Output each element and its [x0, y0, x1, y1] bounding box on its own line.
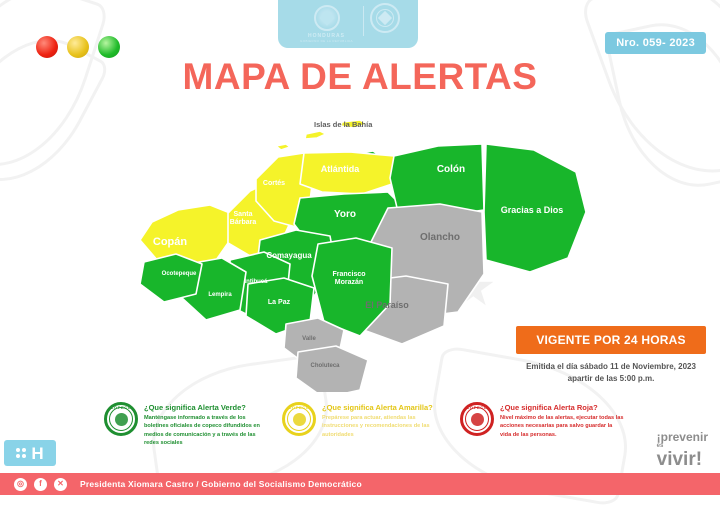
seal-label: COPECO [460, 405, 494, 410]
map-label-colón: Colón [437, 164, 465, 175]
map-label-yoro: Yoro [334, 209, 356, 220]
map-label-lempira: Lempira [208, 292, 232, 298]
tagline-line1: ¡prevenir [657, 431, 708, 443]
alert-dot-yellow-icon [67, 36, 89, 58]
legend-item-amarilla: COPECO ¿Que significa Alerta Amarilla? P… [282, 402, 446, 448]
map-islands-label: Islas de la Bahía [314, 120, 372, 129]
x-twitter-icon[interactable]: ✕ [54, 478, 67, 491]
map-label-choluteca: Choluteca [310, 363, 340, 369]
page-title: MAPA DE ALERTAS [0, 56, 720, 98]
map-region-choluteca [296, 346, 368, 392]
honduras-emblem-icon [314, 5, 340, 31]
map-label-el-paraíso: El Paraíso [365, 300, 409, 310]
map-label-la-paz: La Paz [268, 299, 291, 306]
validity-banner: VIGENTE POR 24 HORAS [516, 326, 706, 354]
legend-body-verde: Manténgase informado a través de los bol… [144, 414, 268, 448]
logo-country-sublabel: GOBIERNO DE LA REPUBLICA [300, 39, 353, 43]
alert-dot-green-icon [98, 36, 120, 58]
honduras-government-logo: HONDURAS GOBIERNO DE LA REPUBLICA [297, 0, 357, 48]
map-label-cortés: Cortés [263, 180, 285, 187]
tagline: ¡prevenir es vivir! [657, 431, 708, 469]
map-region-islas [276, 144, 290, 150]
validity-issue-date: Emitida el día sábado 11 de Noviembre, 2… [516, 361, 706, 373]
legend-item-roja: COPECO ¿Que significa Alerta Roja? Nivel… [460, 402, 624, 448]
map-label-ocotepeque: Ocotepeque [162, 271, 197, 277]
alert-legend: COPECO ¿Que significa Alerta Verde? Mant… [104, 402, 624, 448]
footer-credit-text: Presidenta Xiomara Castro / Gobierno del… [80, 479, 362, 489]
legend-body-roja: Nivel máximo de las alertas, ejecutar to… [500, 414, 624, 439]
logo-divider [363, 6, 364, 36]
map-region-ocotepeque [140, 254, 202, 302]
header-logo-card: HONDURAS GOBIERNO DE LA REPUBLICA [278, 0, 418, 48]
flag-stars-icon [16, 448, 26, 458]
map-label-atlántida: Atlántida [321, 164, 360, 174]
bulletin-number-badge: Nro. 059- 2023 [605, 32, 706, 54]
seal-label: COPECO [104, 405, 138, 410]
footer-bar: ◎ f ✕ Presidenta Xiomara Castro / Gobier… [0, 473, 720, 495]
map-label-comayagua: Comayagua [266, 251, 312, 260]
map-label-intibucá: Intibucá [244, 279, 268, 285]
legend-item-verde: COPECO ¿Que significa Alerta Verde? Mant… [104, 402, 268, 448]
instagram-icon[interactable]: ◎ [14, 478, 27, 491]
h-letter-label: H [31, 445, 43, 462]
tagline-line2: vivir! [657, 450, 708, 469]
facebook-icon[interactable]: f [34, 478, 47, 491]
alert-dot-red-icon [36, 36, 58, 58]
copeco-seal-red-icon: COPECO [460, 402, 494, 436]
copeco-seal-icon [370, 3, 400, 33]
honduras-h-badge: H [4, 440, 56, 466]
map-label-copán: Copán [153, 236, 188, 248]
map-label-santa-bárbara: SantaBárbara [230, 211, 257, 226]
legend-question-verde: ¿Que significa Alerta Verde? [144, 403, 268, 412]
copeco-logo [370, 0, 400, 48]
map-region-islas [305, 131, 326, 139]
copeco-seal-yellow-icon: COPECO [282, 402, 316, 436]
validity-issue-time: apartir de las 5:00 p.m. [516, 373, 706, 385]
validity-block: VIGENTE POR 24 HORAS Emitida el día sába… [516, 326, 706, 386]
copeco-seal-green-icon: COPECO [104, 402, 138, 436]
map-label-olancho: Olancho [420, 232, 460, 243]
legend-body-amarilla: Prepárese para actuar, atiendas las inst… [322, 414, 446, 439]
legend-question-roja: ¿Que significa Alerta Roja? [500, 403, 624, 412]
alert-level-indicator [36, 36, 120, 58]
seal-label: COPECO [282, 405, 316, 410]
map-label-valle: Valle [302, 336, 316, 342]
map-label-francisco-morazán: FranciscoMorazán [332, 271, 365, 286]
map-label-gracias-a-dios: Gracias a Dios [501, 205, 564, 215]
legend-question-amarilla: ¿Que significa Alerta Amarilla? [322, 403, 446, 412]
